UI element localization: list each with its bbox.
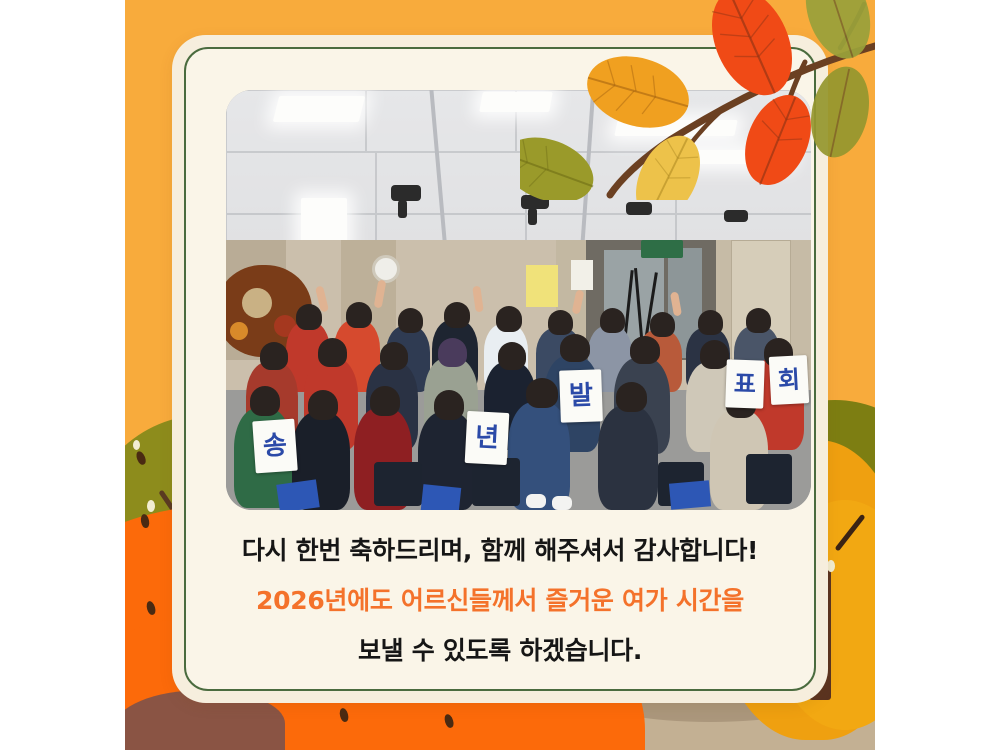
person-hair	[308, 390, 338, 420]
leaf-red-lower-icon	[733, 85, 824, 195]
person-hair	[630, 336, 660, 364]
person-hair	[498, 342, 526, 370]
blue-folder	[276, 479, 320, 510]
person-hair	[370, 386, 400, 416]
sign-card-1: 송	[252, 419, 298, 474]
caption-line-1: 다시 한번 축하드리며, 함께 해주셔서 감사합니다!	[210, 531, 790, 567]
person-hair	[650, 312, 675, 337]
person-hair	[296, 304, 322, 330]
ceiling-light	[273, 96, 365, 122]
person-hair	[346, 302, 372, 328]
sign-card-2: 년	[465, 411, 510, 465]
person-hair	[746, 308, 771, 333]
person-hair	[260, 342, 288, 370]
person-hair	[698, 310, 723, 335]
wall-clock	[372, 255, 400, 283]
person	[598, 406, 658, 510]
person-hair	[526, 378, 558, 408]
chair	[374, 462, 422, 506]
poster-canvas: 송 년 발 표 회 다시 한번 축하드리며, 함께 해주셔서 감사합니다!	[125, 0, 875, 750]
person-hair	[380, 342, 408, 370]
shoe	[526, 494, 546, 508]
sign-card-4: 표	[725, 359, 765, 408]
wreath-ornament	[230, 322, 248, 340]
person-hair	[318, 338, 347, 367]
exit-sign	[641, 240, 683, 258]
person-hair	[548, 310, 573, 335]
person-hair	[560, 334, 590, 362]
projector-arm	[398, 200, 407, 218]
sign-card-3: 발	[559, 369, 603, 422]
caption-line-3: 보낼 수 있도록 하겠습니다.	[210, 631, 790, 667]
caption-line-2: 2026년에도 어르신들께서 즐거운 여가 시간을	[210, 581, 790, 617]
snow-dot	[133, 440, 140, 450]
ceiling-projector	[724, 210, 748, 222]
poster-stage: 송 년 발 표 회 다시 한번 축하드리며, 함께 해주셔서 감사합니다!	[0, 0, 1000, 750]
caption-block: 다시 한번 축하드리며, 함께 해주셔서 감사합니다! 2026년에도 어르신들…	[210, 531, 790, 667]
sign-card-5: 회	[769, 355, 809, 405]
snow-dot	[147, 500, 155, 512]
blue-folder	[669, 480, 711, 509]
wreath-ornament	[242, 288, 272, 318]
blue-folder	[421, 484, 462, 510]
person-hair	[444, 302, 470, 328]
person-hair	[398, 308, 423, 333]
chair	[746, 454, 792, 504]
person-hair	[700, 340, 729, 369]
projector-arm	[528, 208, 537, 225]
leaf-olive-right-icon	[803, 61, 875, 163]
ceiling-projector	[626, 202, 652, 215]
leaf-orange-mid-icon	[579, 45, 698, 139]
person-hair	[616, 382, 647, 412]
notice-poster	[526, 265, 558, 307]
leaf-olive-left-icon	[520, 126, 602, 200]
person-hair	[434, 390, 464, 420]
person-hair	[600, 308, 625, 333]
person-hair	[438, 338, 467, 367]
person-hair	[496, 306, 522, 332]
autumn-leaf-branch	[520, 0, 875, 200]
person-hair	[250, 386, 280, 416]
notice-paper	[571, 260, 593, 290]
chair	[472, 458, 520, 506]
snow-dot	[827, 560, 835, 572]
shoe	[552, 496, 572, 510]
ceiling-projector	[391, 185, 421, 201]
